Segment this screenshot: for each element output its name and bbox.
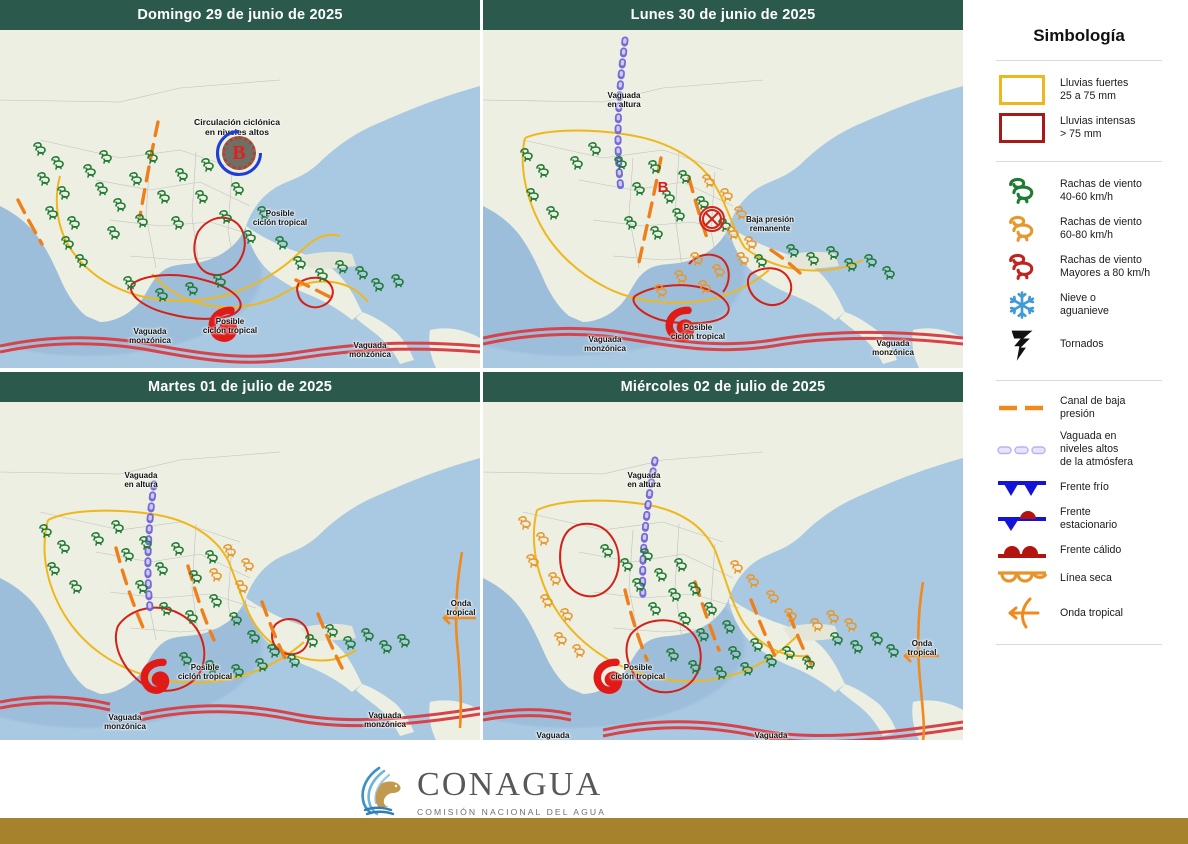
rain-box-yellow-icon [994, 75, 1050, 105]
warm-front-icon [994, 540, 1050, 560]
gold-bottom-bar [0, 818, 1188, 844]
conagua-logo: CONAGUA COMISIÓN NACIONAL DEL AGUA [357, 766, 606, 818]
conagua-subtitle: COMISIÓN NACIONAL DEL AGUA [417, 807, 606, 817]
legend-label: Lluvias intensas > 75 mm [1060, 115, 1135, 142]
legend-label: Frente cálido [1060, 544, 1121, 557]
legend-label: Frente estacionario [1060, 506, 1117, 533]
legend-label: Rachas de viento 40-60 km/h [1060, 178, 1142, 205]
legend-label: Frente frío [1060, 481, 1109, 494]
legend-item-nieve[interactable]: Nieve o aguanieve [970, 286, 1188, 324]
legend-label: Nieve o aguanieve [1060, 292, 1109, 319]
maps-area: Domingo 29 de junio de 2025 [0, 0, 963, 844]
legend-label: Vaguada en niveles altos de la atmósfera [1060, 430, 1133, 470]
panel-2-map[interactable]: Vaguada en altura B Baja presión remanen… [483, 30, 963, 368]
panel-2-title: Lunes 30 de junio de 2025 [483, 0, 963, 30]
tropical-wave-icon [994, 596, 1050, 630]
map-vector-layer [0, 30, 480, 368]
snowflake-icon [994, 290, 1050, 320]
wind-gust-orange-icon [994, 214, 1050, 244]
legend-item-rachas-mayores-80[interactable]: Rachas de viento Mayores a 80 km/h [970, 248, 1188, 286]
map-vector-layer [483, 30, 963, 368]
legend-item-lluvias-intensas[interactable]: Lluvias intensas > 75 mm [970, 109, 1188, 147]
legend-divider-1 [996, 60, 1162, 61]
forecast-panel-4[interactable]: Miércoles 02 de julio de 2025 [483, 372, 963, 740]
legend-item-tornados[interactable]: Tornados [970, 324, 1188, 366]
legend-divider-2 [996, 161, 1162, 162]
panel-1-map[interactable]: B Circulación ciclónica en niveles altos… [0, 30, 480, 368]
legend-label: Rachas de viento Mayores a 80 km/h [1060, 254, 1150, 281]
low-pressure-channel-icon [994, 403, 1050, 413]
wind-gust-green-icon [994, 176, 1050, 206]
legend-label: Línea seca [1060, 572, 1112, 585]
legend-item-lluvias-fuertes[interactable]: Lluvias fuertes 25 a 75 mm [970, 71, 1188, 109]
wind-gust-red-icon [994, 252, 1050, 282]
remnant-low-x-symbol [699, 206, 725, 232]
legend-item-onda-tropical[interactable]: Onda tropical [970, 592, 1188, 634]
legend-label: Rachas de viento 60-80 km/h [1060, 216, 1142, 243]
legend-label: Lluvias fuertes 25 a 75 mm [1060, 77, 1128, 104]
dry-line-icon [994, 568, 1050, 588]
panel-4-title: Miércoles 02 de julio de 2025 [483, 372, 963, 402]
legend-label: Tornados [1060, 338, 1104, 351]
legend-item-rachas-60-80[interactable]: Rachas de viento 60-80 km/h [970, 210, 1188, 248]
cold-front-icon [994, 478, 1050, 498]
legend-panel: Simbología Lluvias fuertes 25 a 75 mm Ll… [967, 0, 1188, 740]
legend-item-linea-seca[interactable]: Línea seca [970, 564, 1188, 592]
upper-level-trough-icon [994, 444, 1050, 456]
maps-grid: Domingo 29 de junio de 2025 [0, 0, 963, 740]
conagua-title: CONAGUA [417, 768, 606, 802]
cyclonic-circulation-b-symbol: B [216, 130, 262, 176]
tornado-icon [994, 328, 1050, 362]
panel-3-map[interactable]: Vaguada en altura Posible ciclón tropica… [0, 402, 480, 740]
weather-forecast-page: Domingo 29 de junio de 2025 [0, 0, 1188, 844]
conagua-water-badger-icon [357, 766, 405, 818]
rain-box-red-icon [994, 113, 1050, 143]
map-vector-layer [483, 402, 963, 740]
panel-3-title: Martes 01 de julio de 2025 [0, 372, 480, 402]
forecast-panel-1[interactable]: Domingo 29 de junio de 2025 [0, 0, 480, 368]
legend-divider-4 [996, 644, 1162, 645]
legend-item-frente-frio[interactable]: Frente frío [970, 474, 1188, 502]
legend-label: Onda tropical [1060, 607, 1123, 620]
legend-title: Simbología [970, 0, 1188, 46]
legend-item-rachas-40-60[interactable]: Rachas de viento 40-60 km/h [970, 172, 1188, 210]
legend-item-vaguada-niveles-altos[interactable]: Vaguada en niveles altos de la atmósfera [970, 426, 1188, 474]
map-vector-layer [0, 402, 480, 740]
forecast-panel-3[interactable]: Martes 01 de julio de 2025 [0, 372, 480, 740]
legend-item-frente-estacionario[interactable]: Frente estacionario [970, 502, 1188, 537]
b-letter: B [216, 130, 262, 176]
legend-item-frente-calido[interactable]: Frente cálido [970, 536, 1188, 564]
panel-4-map[interactable]: Vaguada en altura Posible ciclón tropica… [483, 402, 963, 740]
stationary-front-icon [994, 507, 1050, 531]
forecast-panel-2[interactable]: Lunes 30 de junio de 2025 [483, 0, 963, 368]
legend-divider-3 [996, 380, 1162, 381]
legend-label: Canal de baja presión [1060, 395, 1125, 422]
legend-item-canal-baja-presion[interactable]: Canal de baja presión [970, 391, 1188, 426]
conagua-logo-text: CONAGUA COMISIÓN NACIONAL DEL AGUA [417, 768, 606, 817]
panel-1-title: Domingo 29 de junio de 2025 [0, 0, 480, 30]
